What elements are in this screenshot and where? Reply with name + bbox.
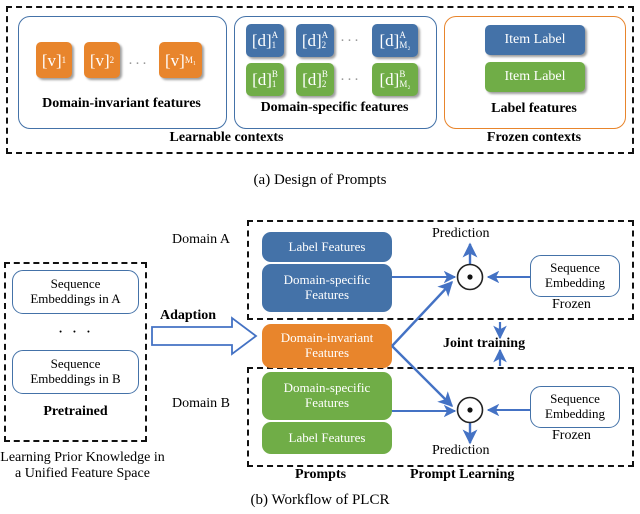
- token-d-b-m2-sub: M₂: [399, 80, 410, 89]
- token-v-m1: [v]M₁: [159, 42, 202, 78]
- label-domain-b: Domain B: [172, 396, 230, 412]
- caption-panel-b: (b) Workflow of PLCR: [0, 492, 640, 509]
- token-d-b-1-sub: 1: [272, 80, 277, 89]
- label-adaption: Adaption: [160, 308, 216, 324]
- token-d-a-m2: [d]AM₂: [372, 24, 418, 57]
- label-domain-invariant-features: Domain-invariant features: [18, 96, 225, 112]
- label-learnable-contexts: Learnable contexts: [18, 130, 435, 146]
- token-d-a-2: [d]A2: [296, 24, 334, 57]
- item-label-green-text: Item Label: [504, 70, 565, 84]
- token-d-b-m2-script: BM₂: [399, 70, 410, 90]
- label-frozen-contexts: Frozen contexts: [444, 130, 624, 146]
- token-d-b-m2: [d]BM₂: [372, 63, 418, 96]
- token-d-b-m2-sup: B: [399, 70, 405, 79]
- token-d-b-2: [d]B2: [296, 63, 334, 96]
- box-sequence-embedding-bottom-text: Sequence Embedding: [545, 392, 605, 422]
- label-prediction-top: Prediction: [432, 226, 490, 242]
- block-a-label-features-text: Label Features: [289, 240, 366, 255]
- block-b-domain-specific-text: Domain-specific Features: [284, 381, 371, 410]
- label-label-features: Label features: [444, 101, 624, 117]
- token-v-1-sub: 1: [62, 56, 67, 65]
- token-d-a-1-script: A1: [272, 31, 279, 51]
- box-sequence-embeddings-b: Sequence Embeddings in B: [12, 350, 139, 394]
- token-v-m1-sub: M₁: [185, 56, 196, 65]
- token-v-1: [v]1: [36, 42, 72, 78]
- label-prompts: Prompts: [295, 467, 346, 483]
- label-frozen-bottom: Frozen: [552, 428, 591, 444]
- token-d-a-2-sup: A: [322, 31, 329, 40]
- label-domain-specific-features: Domain-specific features: [234, 100, 435, 116]
- label-joint-training: Joint training: [443, 336, 525, 352]
- block-domain-invariant-text: Domain-invariant Features: [281, 331, 373, 360]
- token-d-b-1-script: B1: [272, 70, 278, 90]
- block-b-label-features: Label Features: [262, 422, 392, 454]
- label-frozen-top: Frozen: [552, 297, 591, 313]
- token-d-b-2-sup: B: [322, 70, 328, 79]
- ellipsis-domain-invariant: ···: [128, 56, 149, 73]
- label-prompt-learning: Prompt Learning: [410, 467, 514, 483]
- token-d-a-1-base: [d]: [252, 32, 272, 49]
- label-pretrained: Pretrained: [4, 404, 147, 420]
- token-d-a-m2-sub: M₂: [399, 41, 410, 50]
- block-b-label-features-text: Label Features: [289, 431, 366, 446]
- token-v-2-base: [v]: [90, 52, 110, 69]
- token-d-b-m2-base: [d]: [380, 71, 400, 88]
- box-sequence-embeddings-b-text: Sequence Embeddings in B: [30, 357, 120, 387]
- token-d-b-1: [d]B1: [246, 63, 284, 96]
- token-d-a-1: [d]A1: [246, 24, 284, 57]
- token-d-a-m2-script: AM₂: [399, 31, 410, 51]
- token-d-b-1-base: [d]: [252, 71, 272, 88]
- block-b-domain-specific: Domain-specific Features: [262, 372, 392, 420]
- box-sequence-embeddings-a-text: Sequence Embeddings in A: [30, 277, 120, 307]
- token-d-b-1-sup: B: [272, 70, 278, 79]
- token-d-a-m2-sup: A: [399, 31, 406, 40]
- token-d-b-2-script: B2: [322, 70, 328, 90]
- token-d-a-1-sub: 1: [272, 41, 277, 50]
- box-sequence-embeddings-a: Sequence Embeddings in A: [12, 270, 139, 314]
- token-v-m1-base: [v]: [165, 52, 185, 69]
- item-label-blue: Item Label: [485, 25, 585, 55]
- token-d-a-1-sup: A: [272, 31, 279, 40]
- block-domain-invariant: Domain-invariant Features: [262, 324, 392, 368]
- box-sequence-embedding-bottom: Sequence Embedding: [530, 386, 620, 428]
- token-d-a-2-sub: 2: [322, 41, 327, 50]
- token-d-a-2-script: A2: [322, 31, 329, 51]
- item-label-blue-text: Item Label: [504, 33, 565, 47]
- box-sequence-embedding-top-text: Sequence Embedding: [545, 261, 605, 291]
- token-d-b-2-sub: 2: [322, 80, 327, 89]
- token-d-a-m2-base: [d]: [380, 32, 400, 49]
- ellipsis-pretrained: · · ·: [12, 322, 139, 341]
- caption-panel-a: (a) Design of Prompts: [0, 172, 640, 189]
- token-d-a-2-base: [d]: [302, 32, 322, 49]
- token-v-2-sub: 2: [110, 56, 115, 65]
- block-a-domain-specific-text: Domain-specific Features: [284, 273, 371, 302]
- subcaption-learning-prior-knowledge: Learning Prior Knowledge in a Unified Fe…: [0, 450, 165, 481]
- token-v-2: [v]2: [84, 42, 120, 78]
- block-a-label-features: Label Features: [262, 232, 392, 262]
- token-d-b-2-base: [d]: [302, 71, 322, 88]
- label-domain-a: Domain A: [172, 232, 230, 248]
- label-prediction-bottom: Prediction: [432, 443, 490, 459]
- ellipsis-domain-specific-a: ···: [340, 33, 361, 50]
- block-a-domain-specific: Domain-specific Features: [262, 264, 392, 312]
- token-v-1-base: [v]: [42, 52, 62, 69]
- box-sequence-embedding-top: Sequence Embedding: [530, 255, 620, 297]
- ellipsis-domain-specific-b: ···: [340, 72, 361, 89]
- item-label-green: Item Label: [485, 62, 585, 92]
